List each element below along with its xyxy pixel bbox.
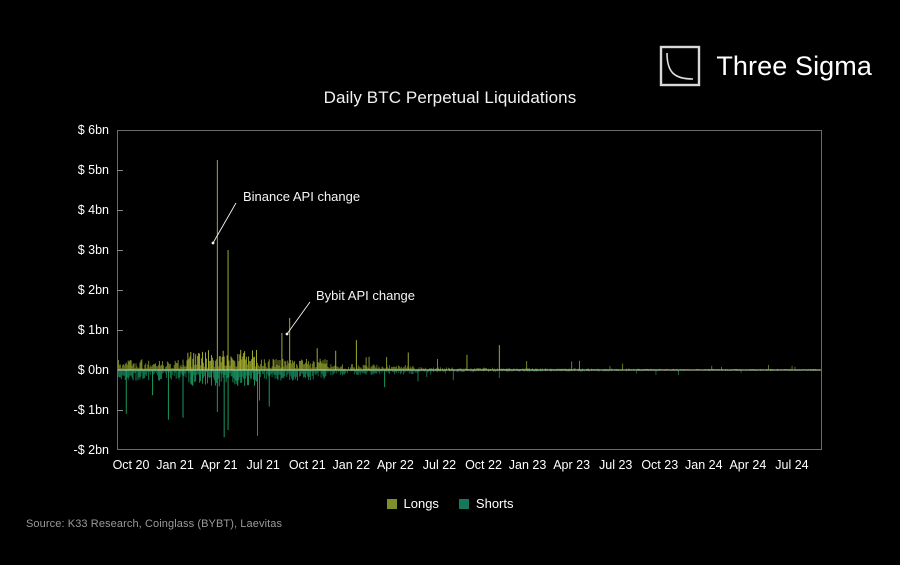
y-axis-tick-label: $ 3bn (78, 243, 109, 257)
chart-legend: LongsShorts (0, 496, 900, 511)
y-axis-tick-label: $ 4bn (78, 203, 109, 217)
chart-annotation-binance-api-change: Binance API change (243, 189, 360, 204)
x-axis-tick-label: Jan 22 (333, 458, 371, 472)
x-axis-tick-label: Jul 22 (423, 458, 456, 472)
x-axis-tick-label: Jan 23 (509, 458, 547, 472)
legend-swatch-icon (459, 499, 469, 509)
x-axis-labels: Oct 20Jan 21Apr 21Jul 21Oct 21Jan 22Apr … (117, 458, 822, 478)
x-axis-tick-label: Apr 22 (377, 458, 414, 472)
x-axis-tick-label: Jan 21 (156, 458, 194, 472)
y-axis-tick-label: $ 6bn (78, 123, 109, 137)
y-axis-tick-label: $ 1bn (78, 323, 109, 337)
x-axis-tick-label: Jan 24 (685, 458, 723, 472)
x-axis-tick-label: Oct 21 (289, 458, 326, 472)
plot-area (117, 130, 822, 450)
y-axis-tick-label: $ 5bn (78, 163, 109, 177)
plot-frame (117, 130, 822, 450)
brand-logo: Three Sigma (658, 44, 872, 88)
x-axis-tick-label: Apr 24 (729, 458, 766, 472)
y-axis-tick-mark (117, 210, 123, 211)
x-axis-tick-label: Oct 23 (641, 458, 678, 472)
y-axis-tick-mark (117, 290, 123, 291)
source-note: Source: K33 Research, Coinglass (BYBT), … (26, 518, 282, 530)
chart-title: Daily BTC Perpetual Liquidations (0, 88, 900, 108)
x-axis-tick-label: Jul 23 (599, 458, 632, 472)
x-axis-tick-label: Jul 21 (247, 458, 280, 472)
chart-annotation-bybit-api-change: Bybit API change (316, 288, 415, 303)
legend-item-longs[interactable]: Longs (387, 496, 439, 511)
x-axis-tick-label: Oct 22 (465, 458, 502, 472)
y-axis-tick-label: $ 0bn (78, 363, 109, 377)
legend-item-shorts[interactable]: Shorts (459, 496, 514, 511)
legend-label: Longs (404, 496, 439, 511)
y-axis-tick-label: -$ 1bn (74, 403, 109, 417)
legend-label: Shorts (476, 496, 514, 511)
y-axis-tick-mark (117, 250, 123, 251)
x-axis-tick-label: Oct 20 (113, 458, 150, 472)
y-axis-labels: $ 6bn$ 5bn$ 4bn$ 3bn$ 2bn$ 1bn$ 0bn-$ 1b… (0, 130, 109, 450)
three-sigma-mark-icon (658, 44, 702, 88)
y-axis-tick-mark (117, 170, 123, 171)
brand-name: Three Sigma (716, 51, 872, 82)
y-axis-tick-label: $ 2bn (78, 283, 109, 297)
y-axis-tick-mark (117, 410, 123, 411)
y-axis-tick-mark (117, 330, 123, 331)
y-axis-tick-label: -$ 2bn (74, 443, 109, 457)
chart-canvas: Three Sigma Daily BTC Perpetual Liquidat… (0, 0, 900, 565)
y-axis-tick-mark (117, 370, 123, 371)
x-axis-tick-label: Apr 21 (201, 458, 238, 472)
x-axis-tick-label: Jul 24 (775, 458, 808, 472)
legend-swatch-icon (387, 499, 397, 509)
x-axis-tick-label: Apr 23 (553, 458, 590, 472)
